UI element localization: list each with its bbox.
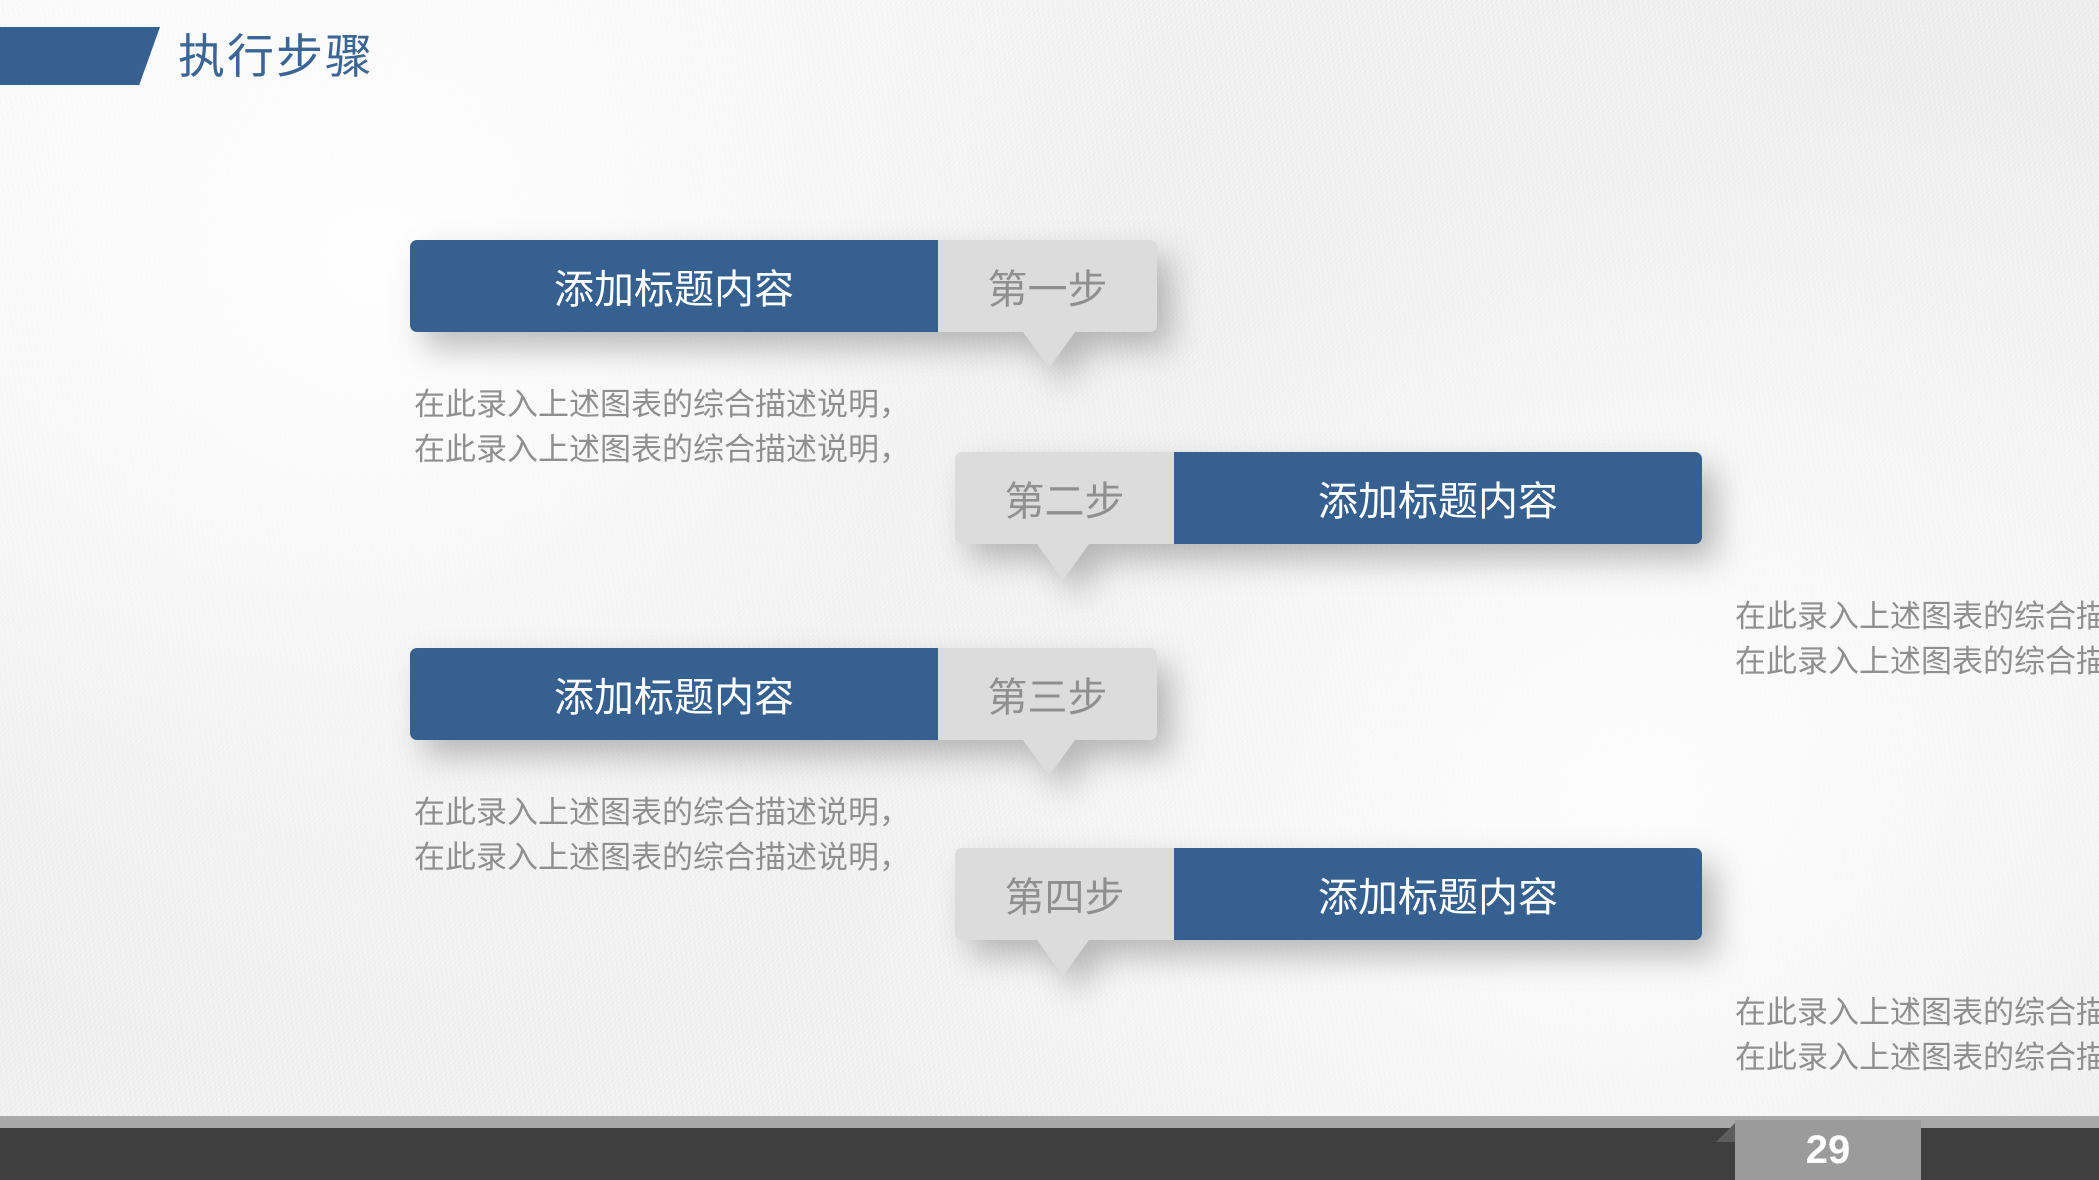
- step-description-line: 在此录入上述图表的综合描述说明，: [414, 427, 910, 472]
- step-description-line: 在此录入上述图表的综合描述说明，: [414, 790, 910, 835]
- step-description-2: 在此录入上述图表的综合描述说明， 在此录入上述图表的综合描述说明，: [1735, 594, 2099, 684]
- step-label-2[interactable]: 第二步: [955, 452, 1174, 544]
- page-number-badge: 29: [1735, 1120, 1921, 1180]
- page-title: 执行步骤: [178, 28, 374, 86]
- callout-pointer-icon: [1023, 332, 1075, 368]
- step-block-3[interactable]: 添加标题内容 第三步 在此录入上述图表的综合描述说明， 在此录入上述图表的综合描…: [410, 648, 1157, 740]
- step-label-1[interactable]: 第一步: [938, 240, 1157, 332]
- step-description-line: 在此录入上述图表的综合描述说明，: [414, 382, 910, 427]
- step-bar: 第二步 添加标题内容: [955, 452, 1702, 544]
- step-label-4[interactable]: 第四步: [955, 848, 1174, 940]
- step-description-line: 在此录入上述图表的综合描述说明，: [1735, 639, 2099, 684]
- step-label-3[interactable]: 第三步: [938, 648, 1157, 740]
- step-block-2[interactable]: 第二步 添加标题内容 在此录入上述图表的综合描述说明， 在此录入上述图表的综合描…: [955, 452, 1702, 544]
- callout-pointer-icon: [1037, 940, 1089, 976]
- step-description-line: 在此录入上述图表的综合描述说明，: [414, 835, 910, 880]
- header-accent-shape: [0, 27, 160, 85]
- step-description-3: 在此录入上述图表的综合描述说明， 在此录入上述图表的综合描述说明，: [414, 790, 910, 880]
- callout-pointer-icon: [1023, 740, 1075, 776]
- step-title-2[interactable]: 添加标题内容: [1174, 452, 1702, 544]
- step-description-4: 在此录入上述图表的综合描述说明， 在此录入上述图表的综合描述说明，: [1735, 990, 2099, 1080]
- step-description-1: 在此录入上述图表的综合描述说明， 在此录入上述图表的综合描述说明，: [414, 382, 910, 472]
- step-description-line: 在此录入上述图表的综合描述说明，: [1735, 990, 2099, 1035]
- callout-pointer-icon: [1037, 544, 1089, 580]
- step-bar: 添加标题内容 第一步: [410, 240, 1157, 332]
- step-block-1[interactable]: 添加标题内容 第一步 在此录入上述图表的综合描述说明， 在此录入上述图表的综合描…: [410, 240, 1157, 332]
- step-description-line: 在此录入上述图表的综合描述说明，: [1735, 1035, 2099, 1080]
- step-block-4[interactable]: 第四步 添加标题内容 在此录入上述图表的综合描述说明， 在此录入上述图表的综合描…: [955, 848, 1702, 940]
- step-title-1[interactable]: 添加标题内容: [410, 240, 938, 332]
- slide-canvas: 执行步骤 添加标题内容 第一步 在此录入上述图表的综合描述说明， 在此录入上述图…: [0, 0, 2099, 1180]
- step-title-3[interactable]: 添加标题内容: [410, 648, 938, 740]
- step-title-4[interactable]: 添加标题内容: [1174, 848, 1702, 940]
- step-bar: 添加标题内容 第三步: [410, 648, 1157, 740]
- step-description-line: 在此录入上述图表的综合描述说明，: [1735, 594, 2099, 639]
- step-bar: 第四步 添加标题内容: [955, 848, 1702, 940]
